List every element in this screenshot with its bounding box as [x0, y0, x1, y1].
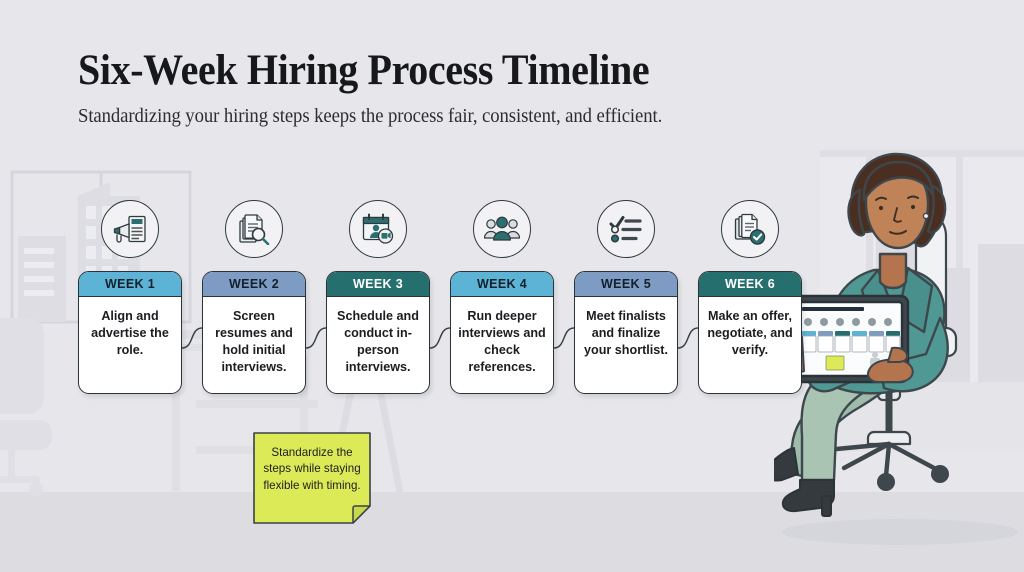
megaphone-job-post-icon [101, 200, 159, 258]
step-card[interactable]: WEEK 2 Screen resumes and hold initial i… [202, 271, 306, 394]
timeline-step-week-5[interactable]: WEEK 5 Meet finalists and finalize your … [574, 200, 678, 394]
step-week-label: WEEK 1 [79, 272, 181, 297]
illustration-woman-with-tablet [774, 150, 1024, 572]
documents-approved-icon [721, 200, 779, 258]
page-title: Six-Week Hiring Process Timeline [78, 48, 649, 93]
step-week-label: WEEK 2 [203, 272, 305, 297]
timeline-step-week-3[interactable]: WEEK 3 Schedule and conduct in-person in… [326, 200, 430, 394]
step-card[interactable]: WEEK 4 Run deeper interviews and check r… [450, 271, 554, 394]
timeline-track: WEEK 1 Align and advertise the role. [78, 200, 800, 412]
step-description: Schedule and conduct in-person interview… [327, 297, 429, 393]
step-card[interactable]: WEEK 1 Align and advertise the role. [78, 271, 182, 394]
step-description: Align and advertise the role. [79, 297, 181, 393]
infographic-canvas: Six-Week Hiring Process Timeline Standar… [0, 0, 1024, 572]
step-week-label: WEEK 6 [699, 272, 801, 297]
timeline-step-week-4[interactable]: WEEK 4 Run deeper interviews and check r… [450, 200, 554, 394]
page-subtitle: Standardizing your hiring steps keeps th… [78, 106, 668, 128]
calendar-video-interview-icon [349, 200, 407, 258]
checklist-icon [597, 200, 655, 258]
timeline-step-week-6[interactable]: WEEK 6 Make an offer, negotiate, and ver… [698, 200, 802, 394]
step-description: Run deeper interviews and check referenc… [451, 297, 553, 393]
people-group-icon [473, 200, 531, 258]
step-description: Make an offer, negotiate, and verify. [699, 297, 801, 393]
step-description: Meet finalists and finalize your shortli… [575, 297, 677, 393]
step-card[interactable]: WEEK 6 Make an offer, negotiate, and ver… [698, 271, 802, 394]
timeline-step-week-2[interactable]: WEEK 2 Screen resumes and hold initial i… [202, 200, 306, 394]
step-card[interactable]: WEEK 3 Schedule and conduct in-person in… [326, 271, 430, 394]
sticky-note-text: Standardize the steps while staying flex… [253, 432, 371, 524]
header-block: Six-Week Hiring Process Timeline Standar… [78, 48, 692, 128]
step-week-label: WEEK 3 [327, 272, 429, 297]
documents-magnifier-icon [225, 200, 283, 258]
step-week-label: WEEK 4 [451, 272, 553, 297]
step-description: Screen resumes and hold initial intervie… [203, 297, 305, 393]
step-week-label: WEEK 5 [575, 272, 677, 297]
sticky-note[interactable]: Standardize the steps while staying flex… [253, 432, 371, 524]
step-card[interactable]: WEEK 5 Meet finalists and finalize your … [574, 271, 678, 394]
timeline-step-week-1[interactable]: WEEK 1 Align and advertise the role. [78, 200, 182, 394]
step-connectors [78, 200, 800, 412]
